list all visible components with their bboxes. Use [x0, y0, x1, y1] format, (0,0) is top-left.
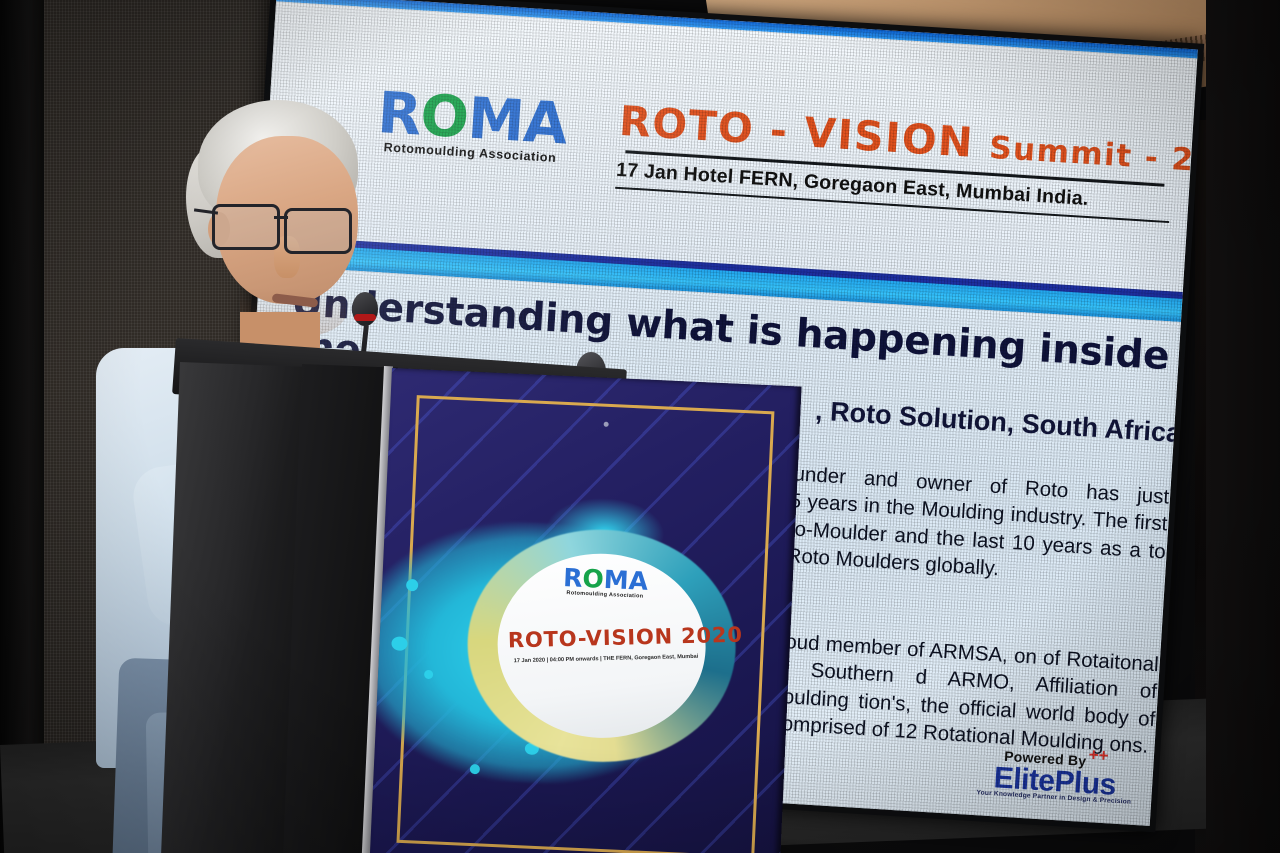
wall-panel-edge-strip: [0, 0, 48, 853]
eliteplus-plus-mark: ++: [1088, 745, 1109, 765]
eyeglass-lens-right: [284, 208, 352, 254]
microphone-red-band: [354, 314, 376, 321]
powered-by-block: Powered By++ ElitePlus Your Knowledge Pa…: [976, 739, 1134, 806]
event-title-block: ROTO - VISION Summit - 2020 17 Jan Hotel…: [615, 101, 1179, 224]
poster-roma-letter-r: R: [563, 563, 584, 593]
roma-letter-o: O: [419, 83, 470, 152]
conference-photo-scene: ROMA Rotomoulding Association ROTO - VIS…: [0, 0, 1280, 853]
event-title-main: ROTO - VISION: [618, 97, 976, 167]
poster-roma-letter-o: O: [582, 564, 605, 594]
podium-poster: ROMA Rotomoulding Association ROTO-VISIO…: [369, 368, 801, 853]
podium: ROMA Rotomoulding Association ROTO-VISIO…: [176, 338, 836, 853]
poster-title: ROTO-VISION 2020: [508, 624, 705, 653]
eyeglasses: [208, 204, 368, 248]
eyeglass-lens-left: [212, 204, 280, 250]
eyeglass-bridge: [274, 216, 288, 219]
right-wall-overlay: [1206, 0, 1280, 853]
microphone-left: [352, 292, 378, 326]
